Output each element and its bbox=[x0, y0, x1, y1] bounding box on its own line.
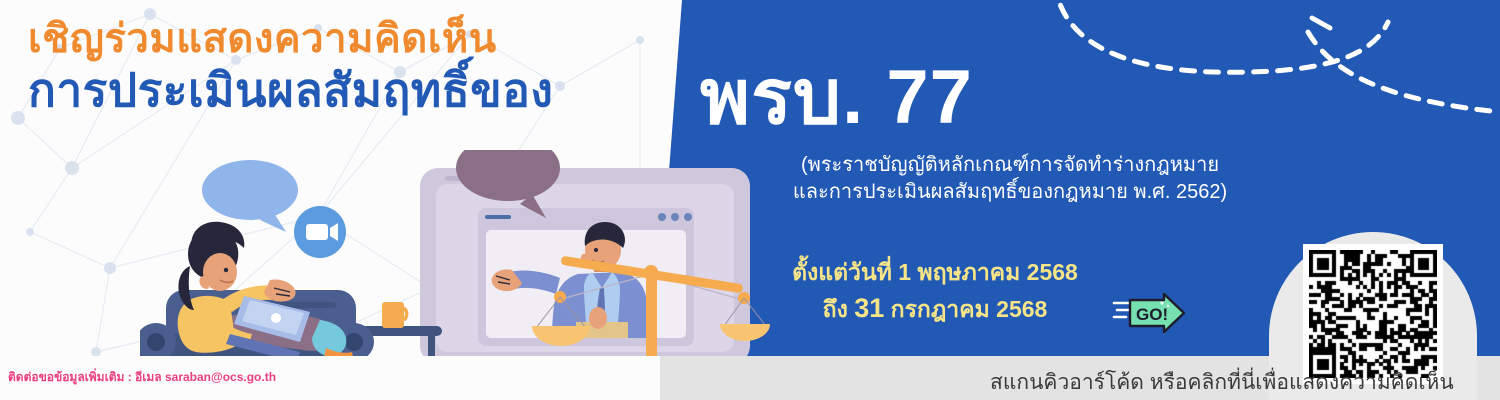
date-line-2-rest: กรกฎาคม 2568 bbox=[891, 296, 1048, 322]
date-line-1: ตั้งแต่วันที่ 1 พฤษภาคม 2568 bbox=[720, 256, 1150, 289]
contact-info: ติดต่อขอข้อมูลเพิ่มเติม : อีเมล saraban@… bbox=[8, 368, 276, 387]
motion-lines-icon bbox=[1114, 303, 1130, 317]
subtitle-line-1: (พระราชบัญญัติหลักเกณฑ์การจัดทำร่างกฎหมา… bbox=[700, 152, 1320, 179]
page-subtitle: (พระราชบัญญัติหลักเกณฑ์การจัดทำร่างกฎหมา… bbox=[700, 152, 1320, 206]
date-range: ตั้งแต่วันที่ 1 พฤษภาคม 2568 ถึง 31 กรกฎ… bbox=[720, 256, 1150, 328]
headline-line-1: เชิญร่วมแสดงความคิดเห็น bbox=[28, 18, 708, 61]
go-button-label: GO! bbox=[1136, 305, 1168, 324]
qr-code[interactable] bbox=[1303, 244, 1443, 384]
scan-instruction[interactable]: สแกนคิวอาร์โค้ด หรือคลิกที่นี่เพื่อแสดงค… bbox=[990, 366, 1454, 399]
video-camera-icon bbox=[294, 206, 346, 258]
date-line-2: ถึง 31 กรกฎาคม 2568 bbox=[720, 289, 1150, 328]
coffee-mug bbox=[382, 302, 407, 328]
page-title: พรบ. 77 bbox=[700, 62, 1320, 134]
speech-bubble-blue bbox=[202, 160, 298, 232]
go-button[interactable]: GO! bbox=[1112, 293, 1192, 333]
date-line-2-day: 31 bbox=[854, 293, 884, 323]
date-line-2-prefix: ถึง bbox=[823, 296, 848, 322]
subtitle-line-2: และการประเมินผลสัมฤทธิ์ของกฎหมาย พ.ศ. 25… bbox=[700, 179, 1320, 206]
headline-line-2: การประเมินผลสัมฤทธิ์ของ bbox=[28, 65, 708, 116]
banner-root: เชิญร่วมแสดงความคิดเห็น การประเมินผลสัมฤ… bbox=[0, 0, 1500, 400]
headline-block: เชิญร่วมแสดงความคิดเห็น การประเมินผลสัมฤ… bbox=[28, 18, 708, 116]
